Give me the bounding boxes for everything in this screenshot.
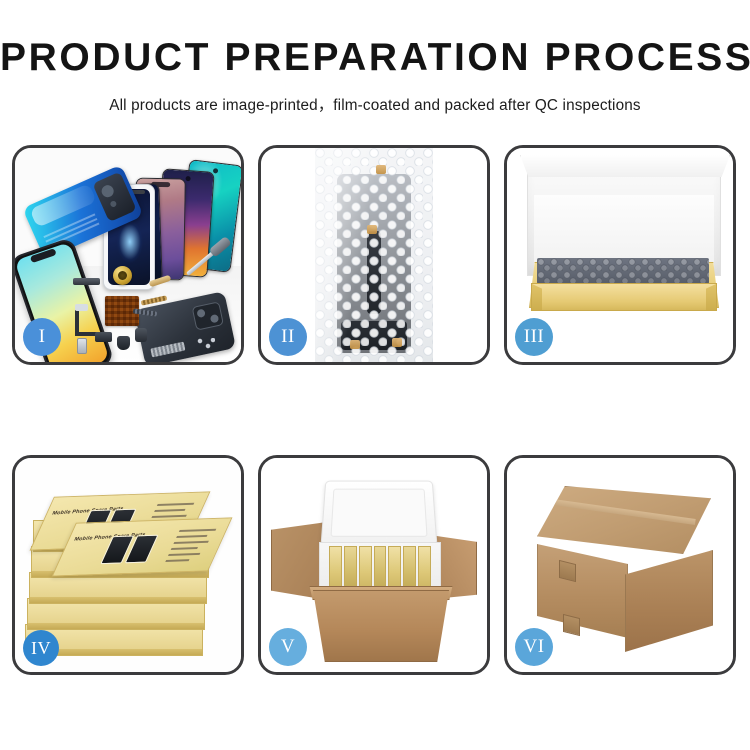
product-preparation-infographic: PRODUCT PREPARATION PROCESS All products… [0,0,750,750]
foam-lid [321,481,438,546]
inner-boxes-row [329,546,431,588]
box-top-face: Mobile Phone Spare Parts [52,517,233,576]
flex-cable-2 [141,295,167,305]
carton-tape-seam [552,499,696,525]
metal-bar-part [73,278,100,285]
step-panel-5: V [258,455,490,675]
inner-box [388,546,401,588]
tape-piece-2 [367,225,377,234]
step-badge-1: I [23,318,61,356]
step-badge-2: II [269,318,307,356]
bubble-texture [315,148,433,362]
inner-box [329,546,342,588]
step-panel-1: I [12,145,244,365]
camera-part [135,328,147,342]
step-panel-4: Mobile Phone Spare Parts Mobile Phone Sp… [12,455,244,675]
inner-box [344,546,357,588]
step-badge-5: V [269,628,307,666]
box-spec-lines [165,529,220,562]
earpiece-part [117,336,130,350]
step-panel-2: II [258,145,490,365]
carton-front-wall [307,590,455,662]
inner-box [359,546,372,588]
inner-box [403,546,416,588]
steps-grid: I II [12,145,738,675]
tray-front-wall [531,283,717,311]
spare-parts-cluster [73,266,205,362]
screws-group [197,338,215,350]
flex-cable-3 [149,275,172,288]
tape-piece-1 [376,165,386,174]
page-title: PRODUCT PREPARATION PROCESS [0,38,750,77]
step-badge-6: VI [515,628,553,666]
step-panel-6: VI [504,455,736,675]
tape-piece-4 [392,338,402,347]
bubble-wrap-bag [315,148,433,362]
step-panel-3: III [504,145,736,365]
page-subtitle: All products are image-printed，film-coat… [0,93,750,115]
speaker-part [95,332,112,342]
header: PRODUCT PREPARATION PROCESS All products… [0,0,750,115]
tape-piece-3 [350,340,360,349]
inner-box [374,546,387,588]
step-badge-3: III [515,318,553,356]
step-badge-4: IV [23,630,59,666]
side-button-part [77,338,87,354]
bubble-padding-inside [537,258,709,284]
gold-coil-part [113,266,132,285]
inner-box [418,546,431,588]
